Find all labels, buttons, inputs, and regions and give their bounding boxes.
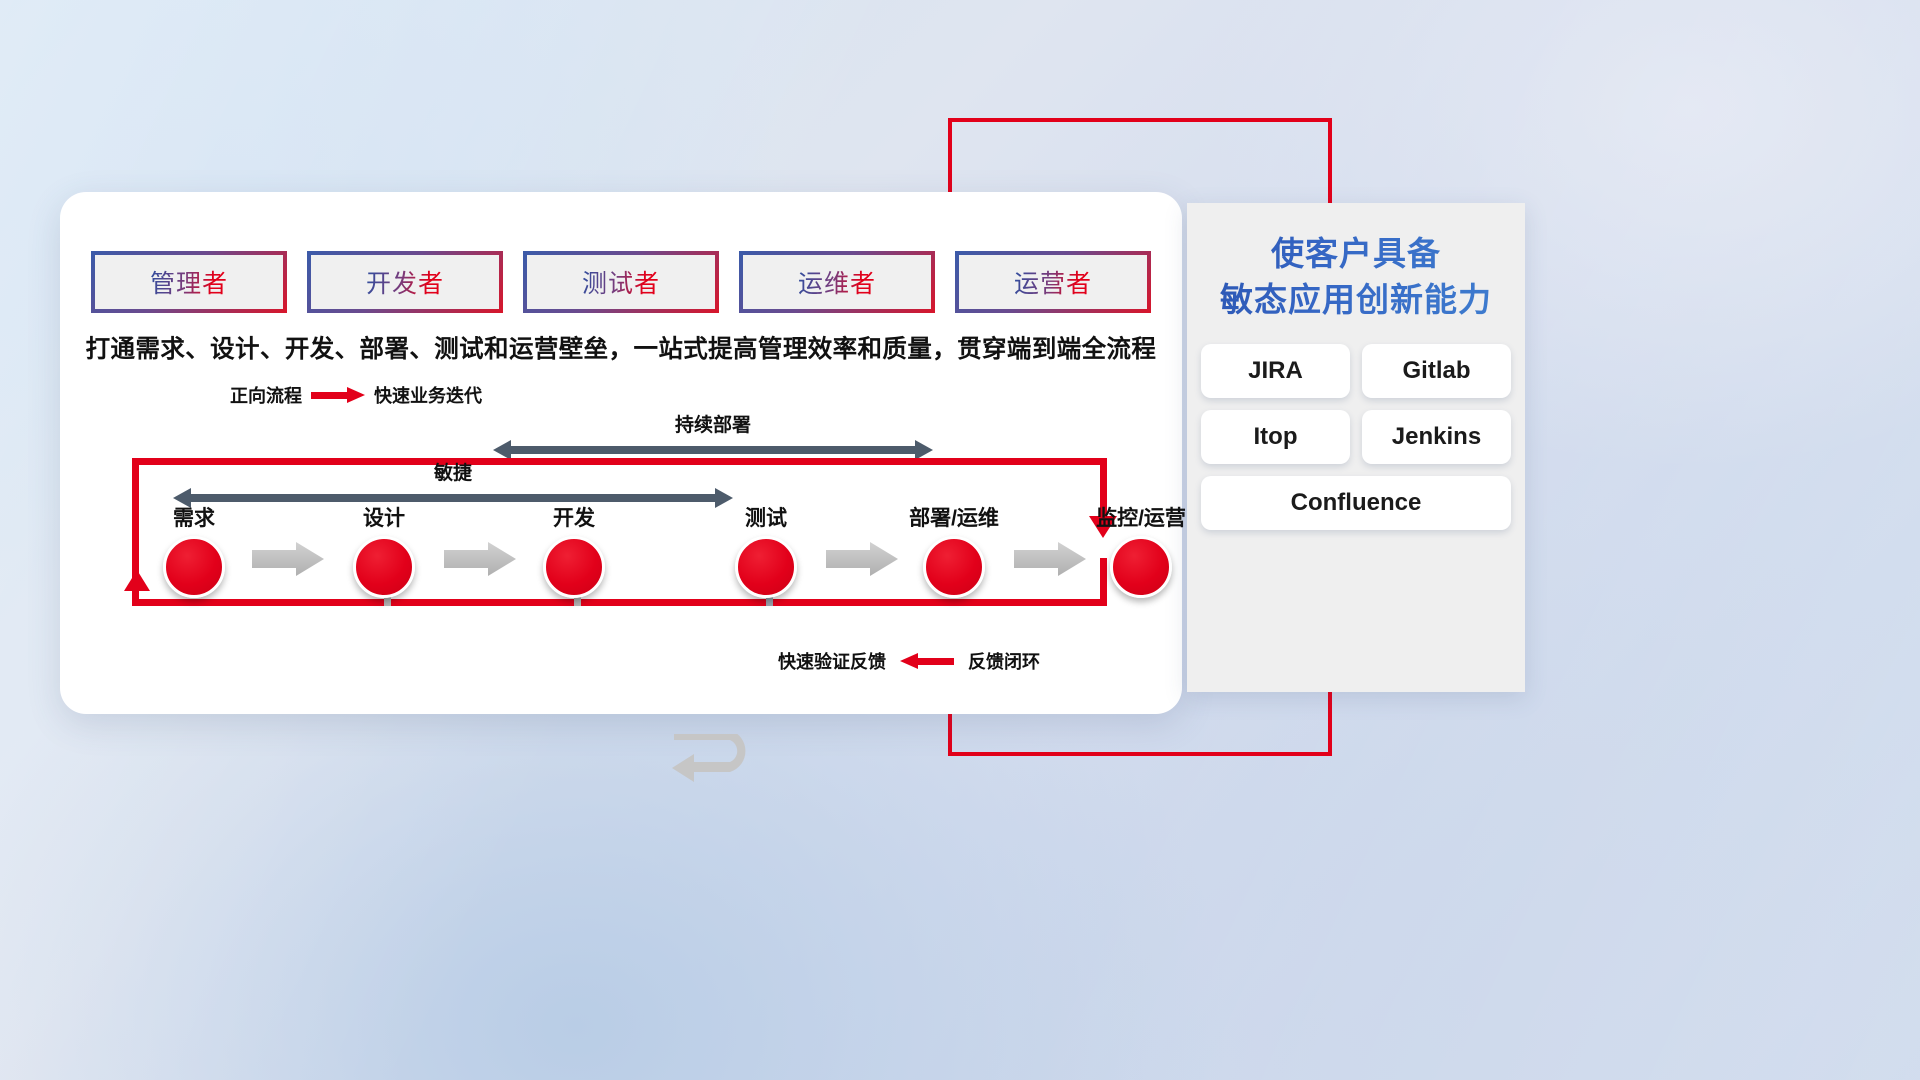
stage-develop[interactable]: 开发 xyxy=(514,502,634,598)
tools-grid: JIRA Gitlab Itop Jenkins Confluence xyxy=(1201,344,1511,530)
span-label-deploy: 持续部署 xyxy=(493,410,933,437)
flow-arrow-3-icon xyxy=(826,542,898,576)
tool-chip-jenkins[interactable]: Jenkins xyxy=(1362,410,1511,464)
role-label: 管理者 xyxy=(150,264,228,300)
arrow-head-right-icon xyxy=(915,440,933,460)
role-label: 运维者 xyxy=(798,264,876,300)
role-box-manager[interactable]: 管理者 xyxy=(91,251,287,313)
legend-forward-flow: 正向流程 快速业务迭代 xyxy=(230,382,482,408)
stage-dot xyxy=(735,536,797,598)
flow-arrow-2-icon xyxy=(444,542,516,576)
role-box-developer[interactable]: 开发者 xyxy=(307,251,503,313)
panel-title-line2: 敏态应用创新能力 xyxy=(1197,277,1515,323)
flow-arrow-4-icon xyxy=(1014,542,1086,576)
tool-chip-itop[interactable]: Itop xyxy=(1201,410,1350,464)
span-arrow-continuous-deployment: 持续部署 xyxy=(493,440,933,460)
role-box-operations[interactable]: 运营者 xyxy=(955,251,1151,313)
legend-forward-target: 快速业务迭代 xyxy=(374,382,482,408)
pipeline: 需求 设计 开发 xyxy=(96,502,1146,602)
stage-label: 设计 xyxy=(324,502,444,532)
stage-label: 开发 xyxy=(514,502,634,532)
role-box-tester[interactable]: 测试者 xyxy=(523,251,719,313)
panel-title: 使客户具备 敏态应用创新能力 xyxy=(1187,203,1525,322)
tool-chip-jira[interactable]: JIRA xyxy=(1201,344,1350,398)
stage-label: 监控/运营 xyxy=(1081,502,1201,532)
stage-label: 部署/运维 xyxy=(894,502,1014,532)
stage-dot xyxy=(923,536,985,598)
stage-dot xyxy=(353,536,415,598)
role-label: 测试者 xyxy=(582,264,660,300)
arrow-shaft xyxy=(189,494,717,502)
description-text: 打通需求、设计、开发、部署、测试和运营壁垒，一站式提高管理效率和质量，贯穿端到端… xyxy=(60,330,1182,365)
legend-feedback-target: 反馈闭环 xyxy=(968,648,1040,674)
tool-chip-gitlab[interactable]: Gitlab xyxy=(1362,344,1511,398)
stage-label: 测试 xyxy=(706,502,826,532)
tool-chip-confluence[interactable]: Confluence xyxy=(1201,476,1511,530)
panel-title-line1: 使客户具备 xyxy=(1197,231,1515,277)
stage-dot xyxy=(543,536,605,598)
stage-dot xyxy=(1110,536,1172,598)
arrow-left-red-icon xyxy=(900,653,954,669)
capability-panel: 使客户具备 敏态应用创新能力 JIRA Gitlab Itop Jenkins … xyxy=(1187,203,1525,692)
legend-feedback-label: 快速验证反馈 xyxy=(778,648,886,674)
role-label: 运营者 xyxy=(1014,264,1092,300)
stage-deploy-ops[interactable]: 部署/运维 xyxy=(894,502,1014,598)
stage-label: 需求 xyxy=(134,502,254,532)
legend-forward-label: 正向流程 xyxy=(230,382,302,408)
stage-test[interactable]: 测试 xyxy=(706,502,826,598)
role-label: 开发者 xyxy=(366,264,444,300)
stage-design[interactable]: 设计 xyxy=(324,502,444,598)
role-box-ops[interactable]: 运维者 xyxy=(739,251,935,313)
stage-requirement[interactable]: 需求 xyxy=(134,502,254,598)
devops-overview-card: 管理者 开发者 测试者 运维者 运营者 打通需求、设计、开发、部署、测试和运营壁… xyxy=(60,192,1182,714)
flow-arrow-1-icon xyxy=(252,542,324,576)
legend-feedback-loop: 快速验证反馈 反馈闭环 xyxy=(778,648,1040,674)
arrow-shaft xyxy=(509,446,917,454)
arrow-right-red-icon xyxy=(311,387,365,403)
stage-dot xyxy=(163,536,225,598)
loop-back-arrow-icon xyxy=(672,734,756,786)
span-label-agile: 敏捷 xyxy=(173,458,733,485)
stage-monitor-operations[interactable]: 监控/运营 xyxy=(1081,502,1201,598)
roles-row: 管理者 开发者 测试者 运维者 运营者 xyxy=(91,251,1151,313)
